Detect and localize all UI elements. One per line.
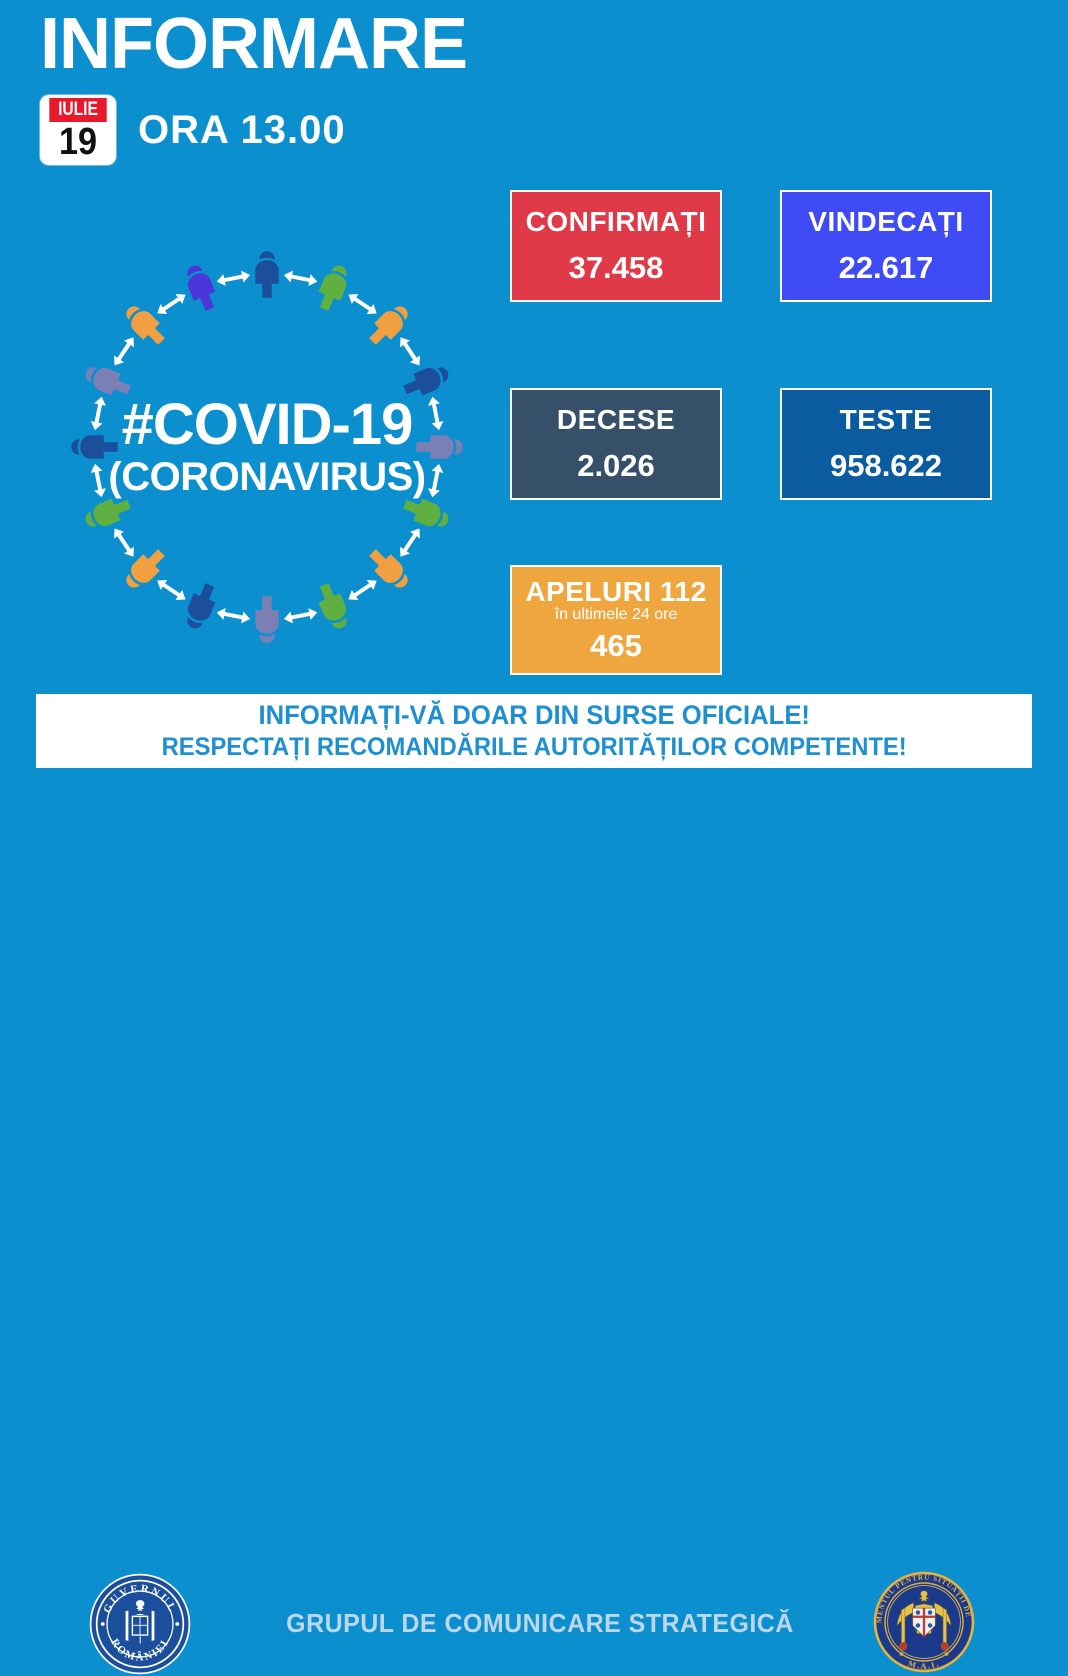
person-icon (415, 434, 464, 460)
banner-line-2: RESPECTAȚI RECOMANDĂRILE AUTORITĂȚILOR C… (161, 733, 906, 762)
stat-label: CONFIRMAȚI (526, 206, 707, 238)
stat-value: 22.617 (839, 249, 934, 286)
double-arrow-icon (89, 463, 107, 499)
person-icon (119, 542, 172, 595)
double-arrow-icon (216, 606, 252, 624)
banner-line-1: INFORMAȚI-VĂ DOAR DIN SURSE OFICIALE! (258, 700, 809, 731)
person-icon (362, 299, 415, 352)
calendar-month: IULIE (49, 98, 106, 122)
people-circle-icon: #COVID-19 (CORONAVIRUS) (42, 222, 492, 672)
double-arrow-icon (216, 269, 252, 287)
double-arrow-icon (396, 525, 425, 560)
stat-card-decese: DECESE 2.026 (510, 388, 722, 500)
stat-value: 2.026 (577, 447, 655, 484)
stat-card-apeluri: APELURI 112 în ultimele 24 ore 465 (510, 565, 722, 675)
stat-value: 465 (590, 627, 642, 664)
double-arrow-icon (345, 576, 380, 605)
person-icon (180, 260, 223, 315)
footer: GUVERNUL ROMÂNIEI GRUPUL DE COMUNICARE S… (0, 782, 1068, 896)
footer-organization: GRUPUL DE COMUNICARE STRATEGICĂ (252, 1608, 828, 1639)
person-icon (254, 595, 280, 644)
stat-label: APELURI 112 (525, 576, 706, 608)
people-circle-svg (42, 222, 492, 672)
person-icon (80, 492, 135, 535)
calendar-day: 19 (47, 122, 110, 162)
infographic-canvas: INFORMARE IULIE 19 ORA 13.00 #COVID-19 (… (0, 0, 1068, 896)
double-arrow-icon (154, 576, 189, 605)
person-icon (180, 579, 223, 634)
person-icon (362, 542, 415, 595)
person-icon (254, 250, 280, 299)
double-arrow-icon (154, 290, 189, 319)
double-arrow-icon (426, 463, 444, 499)
guvernul-romaniei-seal-icon: GUVERNUL ROMÂNIEI (88, 1572, 192, 1676)
double-arrow-icon (283, 269, 319, 287)
double-arrow-icon (110, 334, 139, 369)
person-icon (70, 434, 119, 460)
official-sources-banner: INFORMAȚI-VĂ DOAR DIN SURSE OFICIALE! RE… (36, 694, 1032, 768)
person-icon (80, 360, 135, 403)
departamentul-situatii-urgenta-seal-icon: DEPARTAMENTUL PENTRU SITUAȚII DE URGENȚĂ… (872, 1570, 976, 1674)
stat-value: 37.458 (569, 249, 664, 286)
stat-label: DECESE (557, 404, 675, 436)
stat-value: 958.622 (830, 447, 942, 484)
person-icon (312, 260, 355, 315)
date-time-row: IULIE 19 ORA 13.00 (40, 95, 346, 165)
stat-sublabel: în ultimele 24 ore (555, 606, 678, 624)
double-arrow-icon (427, 396, 445, 432)
double-arrow-icon (396, 334, 425, 369)
person-icon (399, 492, 454, 535)
double-arrow-icon (89, 396, 107, 432)
double-arrow-icon (283, 607, 319, 625)
stat-label: TESTE (840, 404, 933, 436)
person-icon (312, 579, 355, 634)
person-icon (119, 299, 172, 352)
calendar-icon: IULIE 19 (40, 95, 116, 165)
double-arrow-icon (110, 525, 139, 560)
double-arrow-icon (345, 290, 380, 319)
person-icon (399, 360, 454, 403)
stat-card-vindecati: VINDECAȚI 22.617 (780, 190, 992, 302)
stat-card-teste: TESTE 958.622 (780, 388, 992, 500)
stat-card-confirmati: CONFIRMAȚI 37.458 (510, 190, 722, 302)
report-time: ORA 13.00 (138, 108, 346, 153)
stat-label: VINDECAȚI (808, 206, 963, 238)
page-title: INFORMARE (40, 8, 467, 80)
